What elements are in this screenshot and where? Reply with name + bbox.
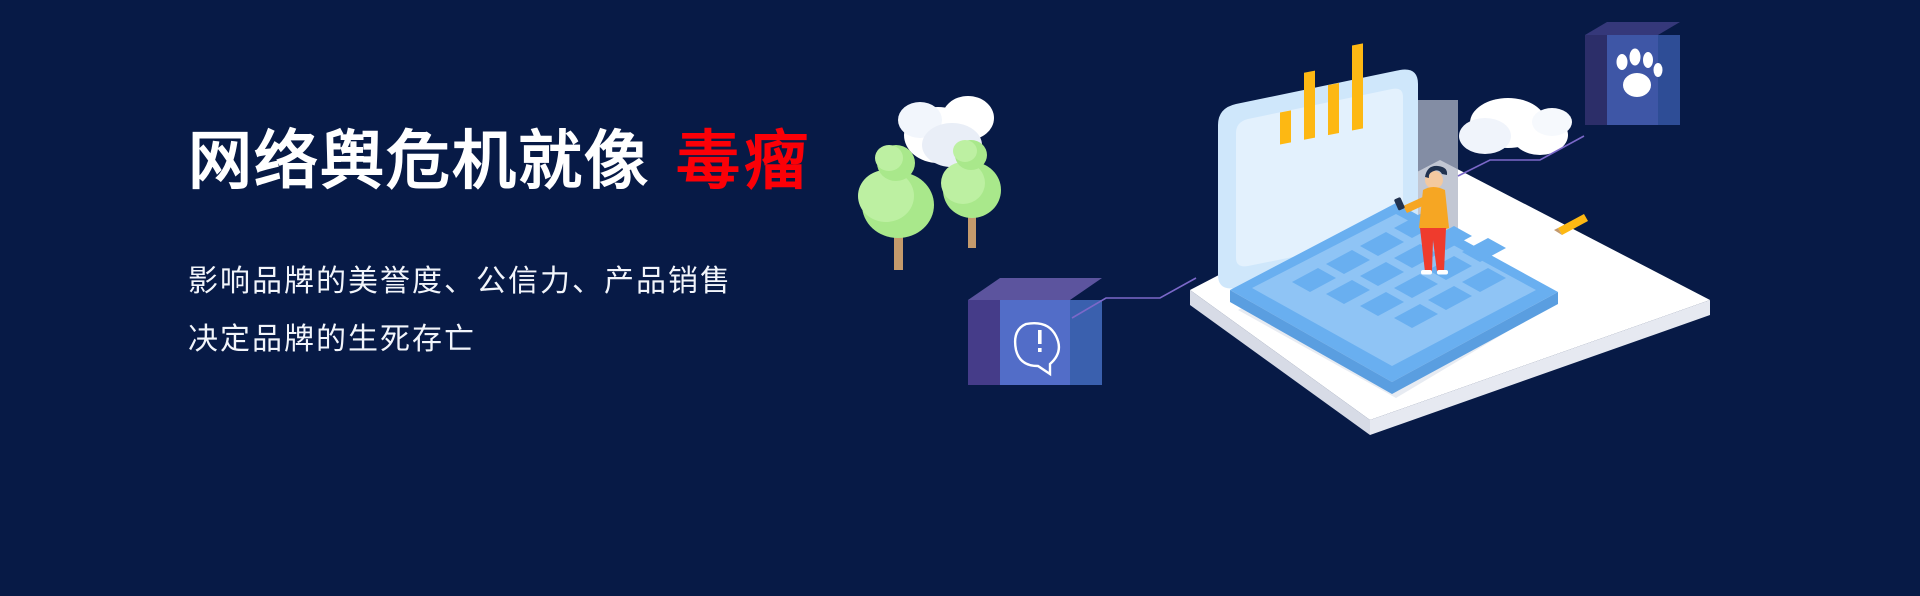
alert-panel — [968, 278, 1102, 385]
paw-panel — [1585, 22, 1680, 125]
hero-banner: 网络舆危机就像毒瘤 影响品牌的美誉度、公信力、产品销售 决定品牌的生死存亡 — [0, 0, 1920, 596]
subheading-group: 影响品牌的美誉度、公信力、产品销售 决定品牌的生死存亡 — [188, 253, 908, 369]
subheading-line-2: 决定品牌的生死存亡 — [188, 311, 908, 369]
banner-text-block: 网络舆危机就像毒瘤 影响品牌的美誉度、公信力、产品销售 决定品牌的生死存亡 — [188, 128, 908, 369]
headline-white-part: 网络舆危机就像 — [188, 125, 650, 197]
tree-left-icon — [858, 145, 934, 270]
isometric-illustration — [840, 0, 1920, 596]
subheading-line-1: 影响品牌的美誉度、公信力、产品销售 — [188, 253, 908, 311]
page-title: 网络舆危机就像毒瘤 — [188, 128, 908, 195]
cloud-right-icon — [1459, 98, 1572, 155]
headline-red-highlight: 毒瘤 — [676, 125, 812, 197]
